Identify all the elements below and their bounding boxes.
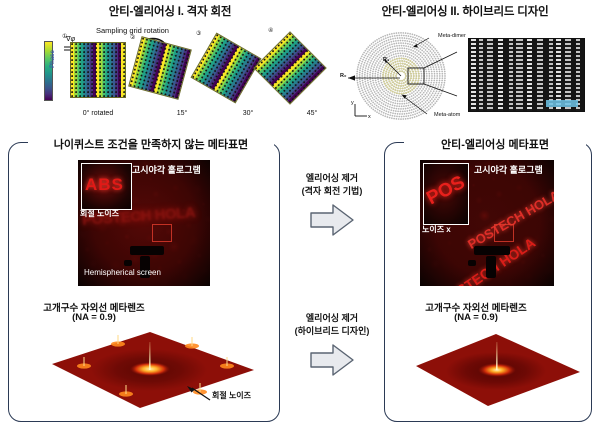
left-hologram-noise-label: 회절 노이즈 xyxy=(80,208,119,219)
meta-dimer-annotation: Meta-dimer xyxy=(438,33,466,39)
axis-y-label: y xyxy=(351,100,354,106)
meta-atom-annotation: Meta-atom xyxy=(434,112,460,118)
sampling-tile-0 xyxy=(70,42,126,98)
left-panel-title: 나이퀴스트 조건을 만족하지 않는 메타표면 xyxy=(28,136,274,152)
sampling-tile-30 xyxy=(190,32,261,103)
sampling-tile-marker-45: ④ xyxy=(268,27,273,34)
hemispherical-screen-label: Hemispherical screen xyxy=(84,268,161,277)
right-metalens-plot xyxy=(392,322,588,412)
sem-nanostructure-column xyxy=(471,39,476,111)
right-hologram-inset: POS xyxy=(423,163,469,225)
sem-nanostructure-column xyxy=(516,39,523,111)
sem-nanostructure-column xyxy=(487,39,493,111)
sampling-tile-label-45: 45° xyxy=(270,110,354,117)
hologram-screen-mount xyxy=(468,260,476,266)
right-hologram-overlay-title: 고시야각 홀로그램 xyxy=(474,163,543,176)
hologram-marker-box xyxy=(494,224,514,242)
sem-nanostructure-column xyxy=(537,39,543,111)
diffraction-noise-arrow-icon xyxy=(186,386,212,404)
sampling-tile-15 xyxy=(128,36,192,100)
phase-colorbar-label: Phase xyxy=(50,44,56,74)
hologram-marker-box xyxy=(152,224,172,242)
top-right-section-title: 안티-엘리어싱 II. 하이브리드 디자인 xyxy=(345,3,585,19)
sem-nanostructure-column xyxy=(479,39,483,111)
hologram-screen-mount xyxy=(486,256,496,278)
top-arrow-text-line1: 엘리어싱 제거 xyxy=(286,172,378,184)
radius-inner-label: R₁ xyxy=(383,57,389,63)
bottom-process-arrow-icon xyxy=(308,342,356,378)
top-process-arrow-icon xyxy=(308,202,356,238)
sem-nanostructure-column xyxy=(509,39,513,111)
sampling-tile-45 xyxy=(253,31,327,105)
bottom-arrow-text-line2: (하이브리드 디자인) xyxy=(280,325,384,337)
top-arrow-text-line2: (격자 회전 기법) xyxy=(286,185,378,197)
hologram-screen-mount xyxy=(130,246,164,255)
sampling-tile-marker-30: ③ xyxy=(196,30,201,37)
top-left-section-title: 안티-엘리어싱 I. 격자 회전 xyxy=(55,3,285,19)
hologram-screen-mount xyxy=(474,246,510,255)
sem-micrograph xyxy=(468,38,585,112)
left-hologram-inset: ABS xyxy=(81,163,132,210)
right-panel-title: 안티-엘리어싱 메타표면 xyxy=(404,136,586,152)
hologram-screen-mount xyxy=(124,260,132,266)
bottom-arrow-text-line1: 엘리어싱 제거 xyxy=(280,312,384,324)
sem-nanostructure-column xyxy=(498,39,503,111)
left-hologram-overlay-title: 고시야각 홀로그램 xyxy=(132,163,201,176)
sampling-tile-label-0: 0° rotated xyxy=(56,110,140,117)
axis-x-label: x xyxy=(368,114,371,120)
right-hologram-noise-label: 노이즈 x xyxy=(422,224,451,235)
radius-outer-label: R₀ xyxy=(340,73,346,79)
sampling-tile-marker-15: ② xyxy=(130,34,135,41)
left-metalens-noise-annotation: 회절 노이즈 xyxy=(212,390,251,401)
left-inset-text: ABS xyxy=(85,175,124,195)
sem-nanostructure-column xyxy=(527,39,532,111)
sem-scale-bar xyxy=(546,100,578,107)
hybrid-metasurface-diagram xyxy=(345,30,463,122)
sampling-tile-marker-0: ① xyxy=(62,33,67,40)
